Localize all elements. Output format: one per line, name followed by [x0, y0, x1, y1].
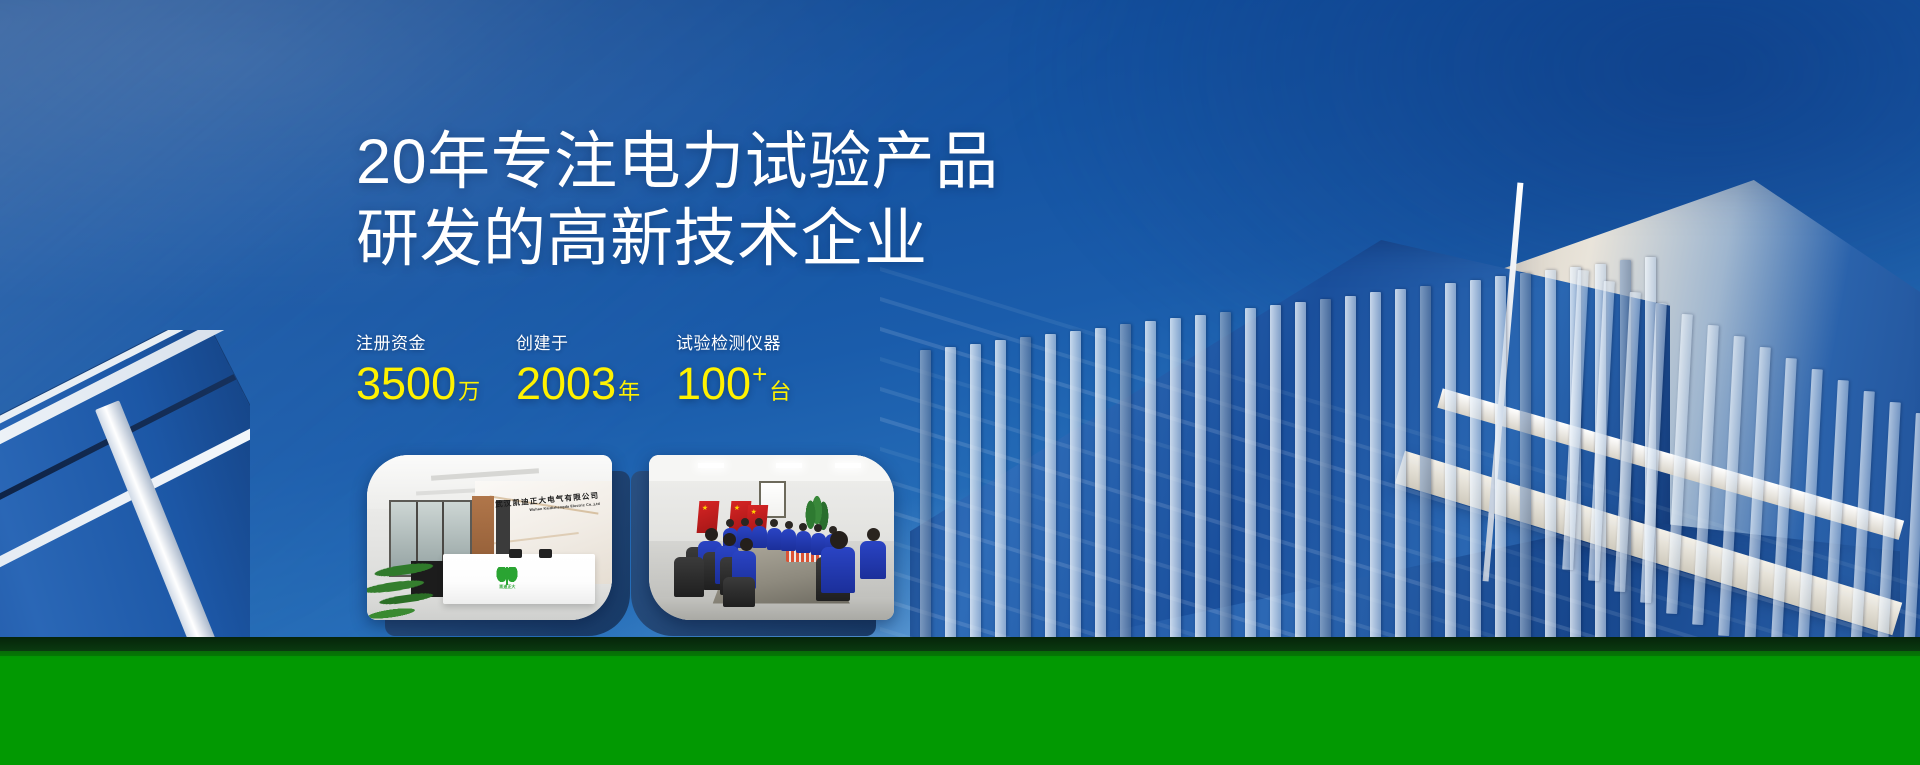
attendee: [767, 528, 782, 550]
divider-dark-band: [0, 637, 1920, 651]
attendee: [821, 547, 855, 593]
attendee-head: [785, 521, 793, 529]
attendee-head: [705, 528, 718, 541]
stat-test-instruments: 试验检测仪器 100+台: [676, 335, 791, 406]
lobby-monitor-2: [539, 549, 552, 558]
stat-number: 3500: [356, 361, 456, 406]
photo-card-meeting[interactable]: [649, 455, 894, 620]
photo-card-lobby[interactable]: 武汉凯迪正大电气有限公司 Wuhan Kaidizhengda Electric…: [367, 455, 612, 620]
stat-label: 试验检测仪器: [676, 335, 791, 352]
stat-unit: 万: [458, 381, 480, 403]
attendee: [860, 541, 886, 579]
attendee: [796, 531, 811, 553]
hero-banner: 20年专注电力试验产品 研发的高新技术企业 注册资金 3500万 创建于 200…: [0, 0, 1920, 765]
stat-number: 100: [676, 361, 751, 406]
headline-line-1: 20年专注电力试验产品: [356, 124, 1116, 201]
stat-value: 3500万: [356, 361, 516, 406]
meeting-lamp-2: [776, 463, 802, 468]
glass-canopy-left: [0, 330, 250, 660]
attendee-head: [867, 528, 880, 541]
stat-label: 注册资金: [356, 335, 516, 352]
stat-value: 100+台: [676, 361, 791, 406]
stat-value: 2003年: [516, 361, 676, 406]
attendee-head: [741, 518, 749, 526]
leaf-icon: [494, 567, 520, 585]
meeting-chair: [723, 577, 755, 607]
meeting-scene: [649, 455, 894, 620]
stat-registered-capital: 注册资金 3500万: [356, 335, 516, 406]
attendee-head: [830, 531, 848, 549]
attendee-head: [723, 533, 736, 546]
attendee-head: [740, 538, 753, 551]
logo-text: 凯迪正大: [494, 585, 520, 589]
stat-superscript: +: [752, 361, 767, 387]
stat-number: 2003: [516, 361, 616, 406]
attendee: [781, 529, 796, 551]
lobby-scene: 武汉凯迪正大电气有限公司 Wuhan Kaidizhengda Electric…: [367, 455, 612, 620]
headline: 20年专注电力试验产品 研发的高新技术企业: [356, 124, 1116, 279]
stat-unit: 台: [769, 381, 791, 403]
photo-meeting-room: [649, 455, 894, 620]
photo-lobby: 武汉凯迪正大电气有限公司 Wuhan Kaidizhengda Electric…: [367, 455, 612, 620]
lobby-palm-plant: [367, 552, 445, 620]
lobby-company-logo: 凯迪正大: [494, 567, 520, 597]
lobby-monitor-1: [509, 549, 522, 558]
stats-row: 注册资金 3500万 创建于 2003年 试验检测仪器 100+台: [356, 335, 791, 406]
headline-line-2: 研发的高新技术企业: [356, 201, 1116, 278]
stat-unit: 年: [618, 381, 640, 403]
meeting-lamp-3: [835, 463, 861, 468]
bottom-green-bar: [0, 651, 1920, 765]
stat-label: 创建于: [516, 335, 676, 352]
attendee: [752, 526, 767, 548]
meeting-chair: [674, 557, 704, 597]
meeting-lamp-1: [698, 463, 724, 468]
stat-founded-year: 创建于 2003年: [516, 335, 676, 406]
attendee-head: [755, 518, 763, 526]
